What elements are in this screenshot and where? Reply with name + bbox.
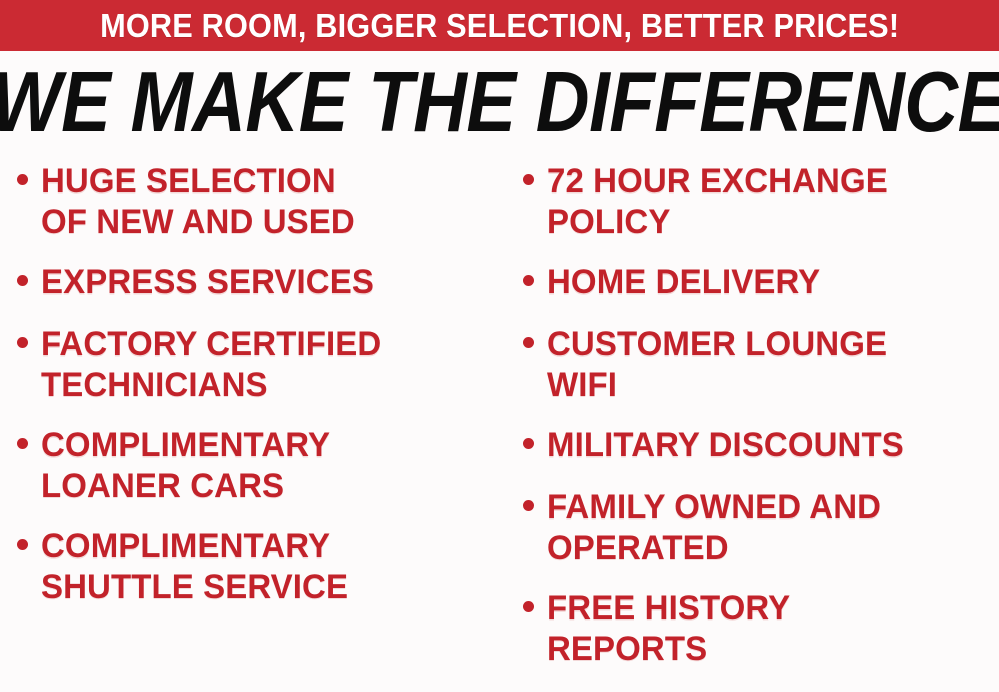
- list-item: FAMILY OWNED AND OPERATED: [523, 486, 999, 564]
- list-item-label: CUSTOMER LOUNGE WIFI: [547, 323, 887, 404]
- bullet-dot-icon: [523, 174, 534, 185]
- benefits-columns: HUGE SELECTION OF NEW AND USED EXPRESS S…: [0, 154, 999, 692]
- list-item-label: FACTORY CERTIFIED TECHNICIANS: [41, 323, 381, 404]
- bullet-dot-icon: [17, 539, 28, 550]
- list-item-label: FAMILY OWNED AND OPERATED: [547, 486, 881, 567]
- list-item-label: COMPLIMENTARY LOANER CARS: [41, 424, 330, 505]
- list-item: HUGE SELECTION OF NEW AND USED: [17, 160, 505, 238]
- top-banner: MORE ROOM, BIGGER SELECTION, BETTER PRIC…: [0, 0, 999, 51]
- list-item: MILITARY DISCOUNTS: [523, 424, 999, 463]
- list-item-label: 72 HOUR EXCHANGE POLICY: [547, 160, 888, 241]
- list-item-label: COMPLIMENTARY SHUTTLE SERVICE: [41, 525, 348, 606]
- list-item-label: HOME DELIVERY: [547, 261, 820, 302]
- promotional-poster: MORE ROOM, BIGGER SELECTION, BETTER PRIC…: [0, 0, 999, 692]
- main-headline: WE MAKE THE DIFFERENCE: [0, 58, 999, 148]
- banner-headline-text: MORE ROOM, BIGGER SELECTION, BETTER PRIC…: [100, 9, 899, 42]
- list-item: CUSTOMER LOUNGE WIFI: [523, 323, 999, 401]
- list-item-label: HUGE SELECTION OF NEW AND USED: [41, 160, 355, 241]
- bullet-dot-icon: [523, 601, 534, 612]
- headline-container: WE MAKE THE DIFFERENCE: [0, 57, 999, 149]
- list-item: HOME DELIVERY: [523, 261, 999, 300]
- bullet-dot-icon: [523, 438, 534, 449]
- list-item: EXPRESS SERVICES: [17, 261, 505, 300]
- list-item: FACTORY CERTIFIED TECHNICIANS: [17, 323, 505, 401]
- list-item-label: EXPRESS SERVICES: [41, 261, 374, 302]
- bullet-dot-icon: [17, 275, 28, 286]
- bullet-dot-icon: [17, 438, 28, 449]
- benefits-column-left: HUGE SELECTION OF NEW AND USED EXPRESS S…: [0, 154, 505, 626]
- bullet-dot-icon: [523, 275, 534, 286]
- bullet-dot-icon: [523, 500, 534, 511]
- list-item: 72 HOUR EXCHANGE POLICY: [523, 160, 999, 238]
- list-item-label: MILITARY DISCOUNTS: [547, 424, 904, 465]
- benefits-column-right: 72 HOUR EXCHANGE POLICY HOME DELIVERY CU…: [505, 154, 999, 688]
- bullet-dot-icon: [17, 337, 28, 348]
- list-item-label: FREE HISTORY REPORTS: [547, 587, 790, 668]
- list-item: FREE HISTORY REPORTS: [523, 587, 999, 665]
- list-item: COMPLIMENTARY LOANER CARS: [17, 424, 505, 502]
- bullet-dot-icon: [17, 174, 28, 185]
- bullet-dot-icon: [523, 337, 534, 348]
- list-item: COMPLIMENTARY SHUTTLE SERVICE: [17, 525, 505, 603]
